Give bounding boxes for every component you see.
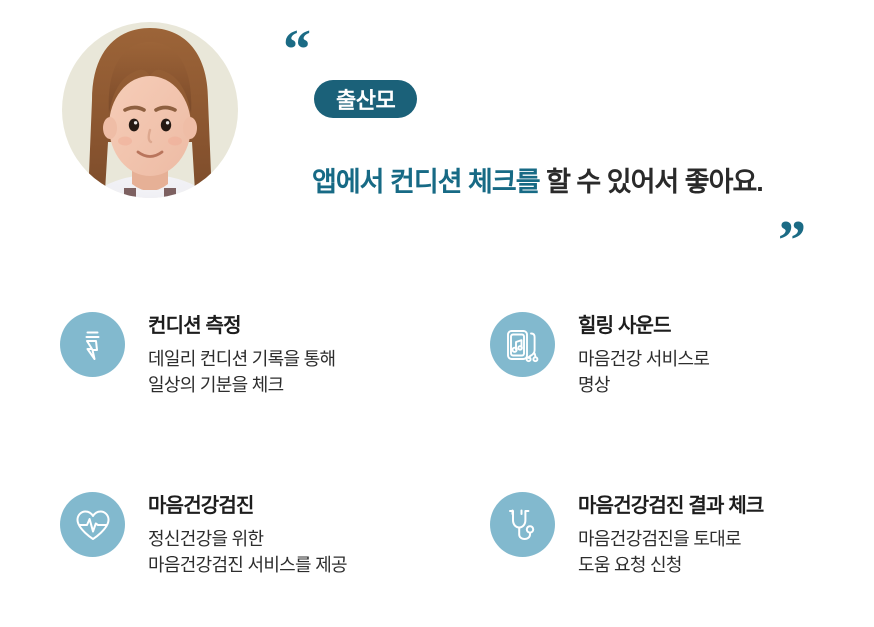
quote-rest-text: 할 수 있어서 좋아요. [540, 167, 763, 197]
heart-pulse-icon [60, 492, 125, 557]
feature-item-condition-check: 컨디션 측정 데일리 컨디션 기록을 통해 일상의 기분을 체크 [60, 310, 460, 398]
feature-title: 컨디션 측정 [148, 314, 335, 338]
feature-item-checkup-result: 마음건강검진 결과 체크 마음건강검진을 토대로 도움 요청 신청 [490, 490, 860, 578]
testimonial-quote: 앱에서 컨디션 체크를 할 수 있어서 좋아요. [312, 163, 812, 201]
music-player-earbuds-icon [490, 312, 555, 377]
feature-item-healing-sound: 힐링 사운드 마음건강 서비스로 명상 [490, 310, 860, 398]
feature-description: 데일리 컨디션 기록을 통해 일상의 기분을 체크 [148, 346, 335, 398]
speaker-badge: 출산모 [314, 80, 417, 118]
feature-text-block: 마음건강검진 결과 체크 마음건강검진을 토대로 도움 요청 신청 [578, 490, 764, 578]
stethoscope-icon [490, 492, 555, 557]
feature-title: 힐링 사운드 [578, 314, 709, 338]
feature-text-block: 힐링 사운드 마음건강 서비스로 명상 [578, 310, 709, 398]
feature-title: 마음건강검진 결과 체크 [578, 494, 764, 518]
avatar [62, 22, 238, 250]
promo-page: “ 출산모 앱에서 컨디션 체크를 할 수 있어서 좋아요. ” 컨디션 측정 … [0, 0, 874, 627]
quote-open-icon: “ [283, 22, 311, 78]
quote-close-icon: ” [778, 213, 806, 269]
feature-item-mental-health-checkup: 마음건강검진 정신건강을 위한 마음건강검진 서비스를 제공 [60, 490, 460, 578]
feature-description: 정신건강을 위한 마음건강검진 서비스를 제공 [148, 526, 347, 578]
feature-text-block: 컨디션 측정 데일리 컨디션 기록을 통해 일상의 기분을 체크 [148, 310, 335, 398]
feature-title: 마음건강검진 [148, 494, 347, 518]
feature-description: 마음건강검진을 토대로 도움 요청 신청 [578, 526, 764, 578]
lightning-bolt-icon [60, 312, 125, 377]
quote-highlight-text: 앱에서 컨디션 체크를 [312, 167, 540, 197]
features-section: 컨디션 측정 데일리 컨디션 기록을 통해 일상의 기분을 체크 [0, 300, 874, 620]
avatar-illustration [62, 22, 238, 250]
testimonial-section: “ 출산모 앱에서 컨디션 체크를 할 수 있어서 좋아요. ” [0, 0, 874, 285]
speaker-badge-label: 출산모 [336, 83, 395, 115]
feature-text-block: 마음건강검진 정신건강을 위한 마음건강검진 서비스를 제공 [148, 490, 347, 578]
feature-description: 마음건강 서비스로 명상 [578, 346, 709, 398]
